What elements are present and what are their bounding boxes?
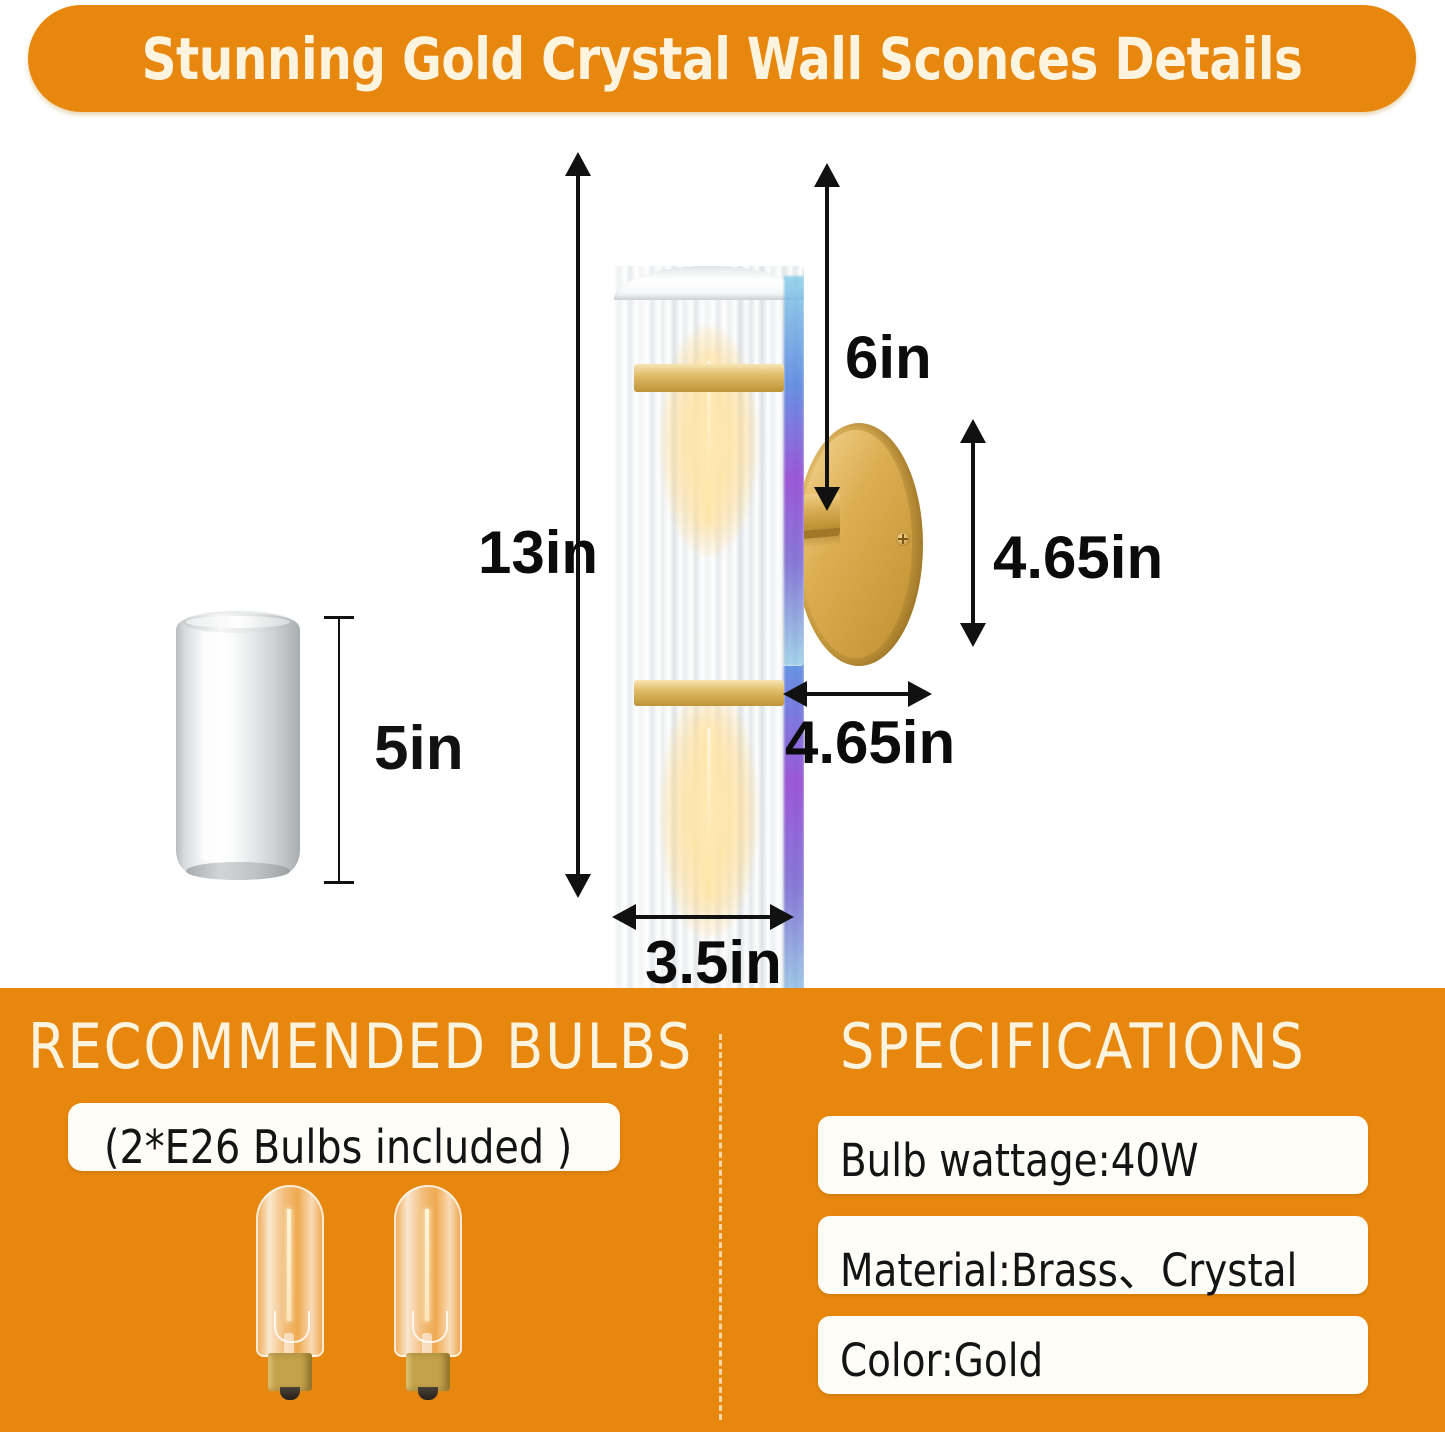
dimension-label-shade-width: 3.5in: [645, 928, 782, 997]
wall-sconce-product: [590, 138, 960, 908]
height-arrow-bottom-head: [565, 874, 591, 898]
bulb-image-1: [256, 1185, 324, 1400]
recommended-bulbs-title: RECOMMENDED BULBS: [28, 1010, 693, 1083]
can-dim-bottom-tick: [324, 881, 354, 884]
dimension-label-upper-height: 6in: [845, 323, 932, 392]
can-body: [176, 618, 300, 876]
bulb-2-e26-base: [406, 1353, 450, 1391]
spec-row-3-text: Color:Gold: [840, 1334, 1043, 1387]
bulb-1-stem: [284, 1333, 294, 1355]
backplate-screw-slot-icon: [896, 532, 910, 546]
dimension-label-total-height: 13in: [478, 518, 598, 587]
upper-arrow-bottom-head: [814, 487, 840, 511]
bulb-1-filament: [287, 1209, 291, 1321]
upper-crystal-shade: [614, 266, 804, 666]
header-banner: Stunning Gold Crystal Wall Sconces Detai…: [28, 5, 1416, 112]
can-lid: [186, 616, 290, 628]
specifications-title: SPECIFICATIONS: [840, 1010, 1306, 1083]
lower-filament: [707, 728, 711, 898]
depth-arrow-right-head: [908, 681, 932, 707]
bulb-2-stem: [422, 1333, 432, 1355]
dimension-diagram: 5in: [0, 118, 1445, 986]
upper-dim-line: [825, 181, 829, 493]
width-dim-line: [630, 915, 775, 919]
bulbs-included-text: (2*E26 Bulbs included ): [104, 1120, 572, 1174]
bulb-1-e26-base: [268, 1353, 312, 1391]
soda-can-reference: [172, 606, 304, 884]
can-bottom-rim: [186, 862, 290, 880]
page-title: Stunning Gold Crystal Wall Sconces Detai…: [77, 25, 1368, 93]
dimension-label-can-height: 5in: [374, 713, 464, 784]
plate-dim-line: [971, 437, 975, 629]
upper-shade-iridescence: [784, 276, 804, 666]
can-dim-line: [338, 616, 340, 884]
bulb-2-contact-tip: [418, 1387, 438, 1400]
bulb-2-filament: [425, 1209, 429, 1321]
panel-divider: [719, 1034, 722, 1420]
depth-dim-line: [801, 692, 913, 696]
can-highlight: [198, 632, 214, 860]
upper-shade-gold-ring: [634, 364, 784, 392]
spec-row-1-text: Bulb wattage:40W: [840, 1134, 1199, 1187]
product-infographic: Stunning Gold Crystal Wall Sconces Detai…: [0, 0, 1445, 1432]
bulb-image-2: [394, 1185, 462, 1400]
bulb-1-contact-tip: [280, 1387, 300, 1400]
dimension-label-projection-depth: 4.65in: [785, 708, 955, 777]
dimension-label-backplate-diameter: 4.65in: [993, 523, 1163, 592]
spec-row-2-text: Material:Brass、Crystal: [840, 1234, 1297, 1299]
plate-arrow-bottom-head: [960, 623, 986, 647]
lower-shade-gold-ring: [634, 680, 784, 706]
width-arrow-right-head: [770, 904, 794, 930]
